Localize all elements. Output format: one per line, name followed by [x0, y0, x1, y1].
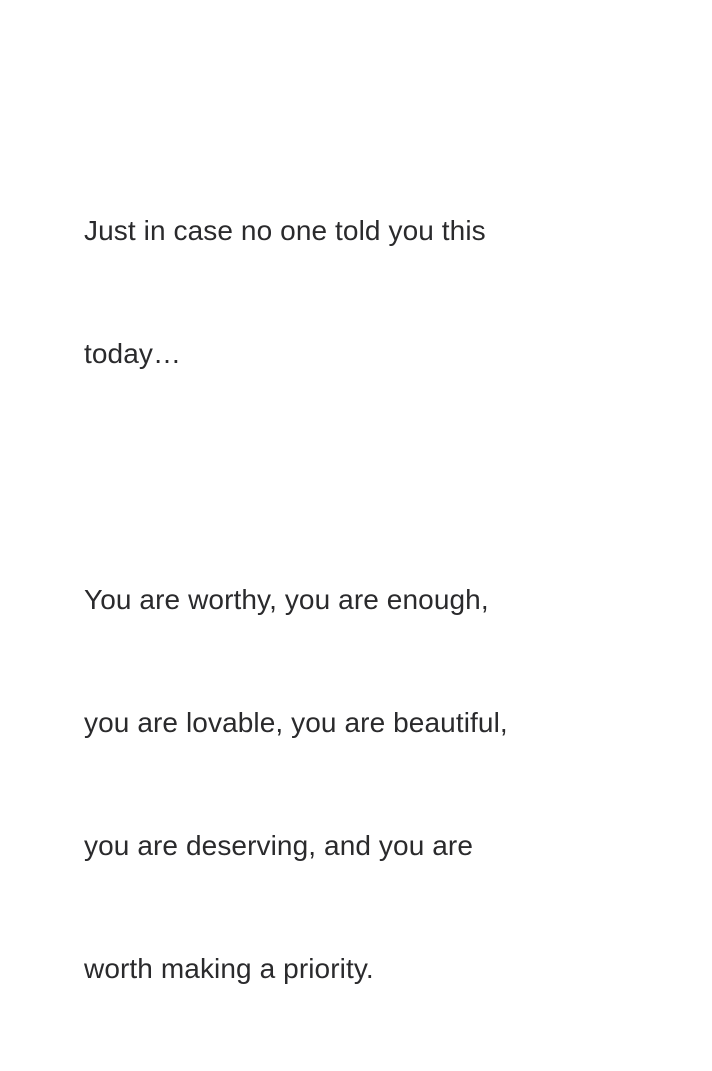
quote-text-block: Just in case no one told you this today……: [84, 128, 624, 1071]
quote-paragraph-intro: Just in case no one told you this today…: [84, 128, 624, 456]
quote-paragraph-affirmation: You are worthy, you are enough, you are …: [84, 497, 624, 1071]
quote-line: you are deserving, and you are: [84, 825, 624, 866]
quote-line: You are worthy, you are enough,: [84, 579, 624, 620]
quote-card: Just in case no one told you this today……: [0, 0, 712, 540]
quote-line: Just in case no one told you this: [84, 210, 624, 251]
quote-line: worth making a priority.: [84, 948, 624, 989]
paragraph-spacer: [84, 456, 624, 497]
quote-line: today…: [84, 333, 624, 374]
quote-line: you are lovable, you are beautiful,: [84, 702, 624, 743]
